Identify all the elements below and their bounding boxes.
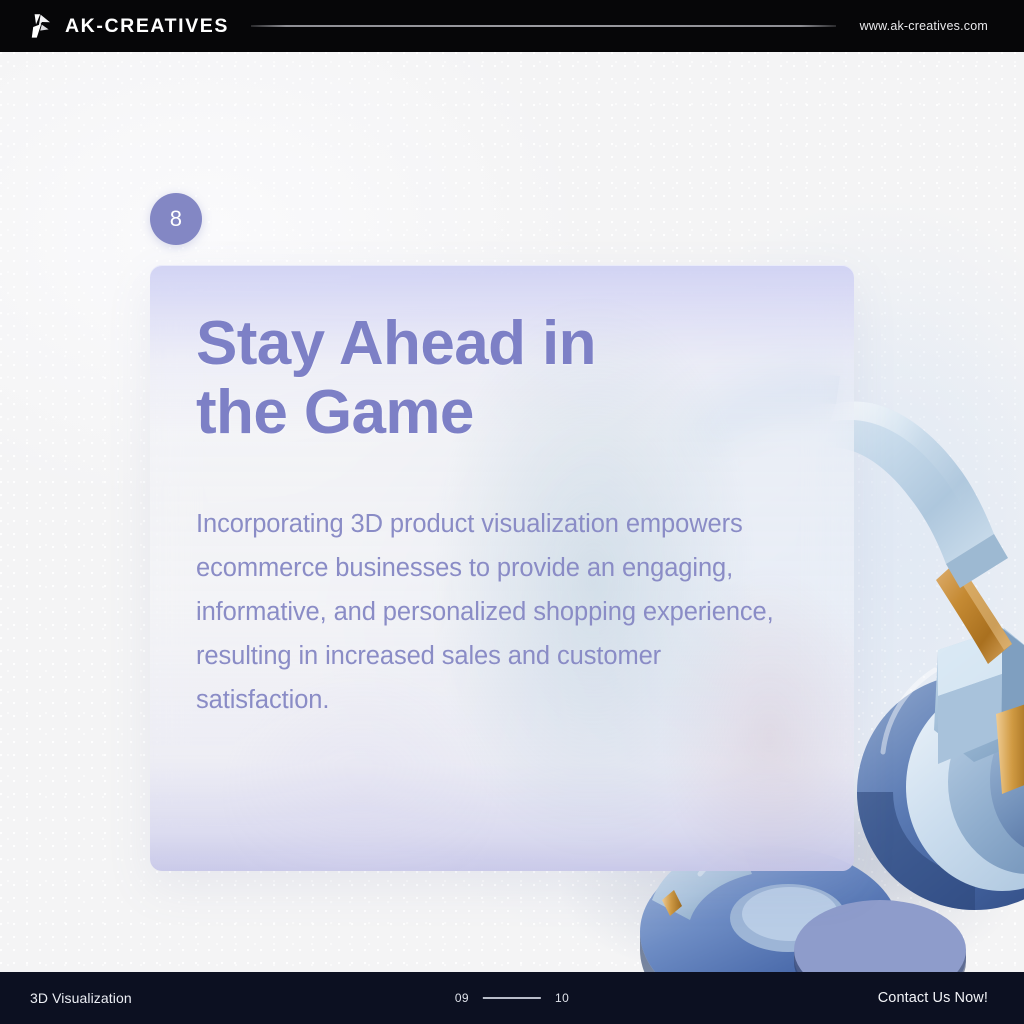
brand-name-text: AK-CREATIVES xyxy=(65,15,229,38)
slide-headline: Stay Ahead in the Game xyxy=(196,309,802,448)
page-total-number: 10 xyxy=(555,991,569,1005)
brand-logo[interactable]: AK-CREATIVES xyxy=(30,13,229,39)
header-divider-line xyxy=(251,25,836,27)
header-bar: AK-CREATIVES www.ak-creatives.com xyxy=(0,0,1024,52)
content-glass-card: Stay Ahead in the Game Incorporating 3D … xyxy=(150,265,854,871)
header-website-url[interactable]: www.ak-creatives.com xyxy=(860,19,988,33)
page-indicator: 09 10 xyxy=(455,991,569,1005)
footer-bar: 3D Visualization 09 10 Contact Us Now! xyxy=(0,972,1024,1024)
presentation-slide: 8 Stay Ahead in the Game Incorporating 3… xyxy=(0,0,1024,1024)
page-indicator-line xyxy=(483,997,541,999)
slide-number-badge: 8 xyxy=(150,193,202,245)
ak-bird-mark-icon xyxy=(30,13,54,39)
footer-cta-link[interactable]: Contact Us Now! xyxy=(878,990,988,1006)
slide-number-value: 8 xyxy=(170,208,183,230)
page-current-number: 09 xyxy=(455,991,469,1005)
card-inner: Stay Ahead in the Game Incorporating 3D … xyxy=(150,265,854,722)
footer-topic-label: 3D Visualization xyxy=(30,990,132,1006)
slide-body-text: Incorporating 3D product visualization e… xyxy=(196,502,796,723)
